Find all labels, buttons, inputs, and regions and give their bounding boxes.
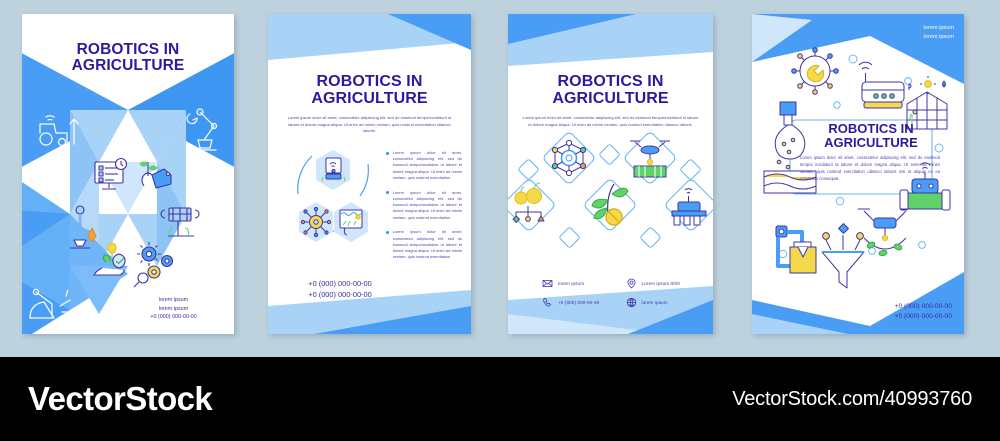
- panel-3-contact-block: lorem ipsum Lorem ipsum 00/0 +0 (000) 00…: [542, 278, 699, 308]
- brochure-panel-1[interactable]: ROBOTICS IN AGRICULTURE: [22, 14, 234, 334]
- molecule-network-icon: [552, 140, 585, 175]
- brochure-panel-4[interactable]: lorem ipsum lorem ipsum: [752, 14, 964, 334]
- bullet-dot-icon: [386, 191, 389, 194]
- panel-2-phone-numbers: +0 (000) 000-00-00 +0 (000) 000-00-00: [282, 278, 398, 300]
- envelope-icon: [542, 278, 553, 289]
- panel-4-lede: Lorem ipsum dolor sit amet, consectetur …: [800, 155, 940, 183]
- gear-network-icon: [299, 202, 333, 242]
- field-sensor-plants-icon: [161, 208, 199, 236]
- list-item: Lorem ipsum dolor sit amet, consectetur …: [386, 150, 462, 181]
- robot-arm-carrot-icon: [70, 206, 96, 248]
- wifi-controller-icon: [859, 62, 904, 108]
- list-item: Lorem ipsum dolor sit amet, consectetur …: [386, 190, 462, 221]
- robot-arm-icon: [187, 109, 216, 150]
- contact-email[interactable]: lorem ipsum: [542, 278, 616, 289]
- vectorstock-logo: VectorStock: [28, 380, 212, 418]
- drone-spraying-icon: [858, 209, 912, 256]
- globe-icon: [626, 297, 637, 308]
- robot-arm-crate-icon: [776, 226, 816, 273]
- robot-welding-icon: [30, 289, 74, 324]
- watermark-bar: VectorStock VectorStock.com/40993760: [0, 357, 1000, 441]
- phone-icon: [542, 297, 553, 308]
- brochure-panel-2[interactable]: ROBOTICS IN AGRICULTURE Lorem ipsum dolo…: [268, 14, 471, 334]
- brochure-sheets: ROBOTICS IN AGRICULTURE: [0, 0, 1000, 345]
- vectorstock-url: VectorStock.com/40993760: [732, 388, 972, 411]
- autonomous-tractor-wifi-icon: [672, 189, 706, 225]
- panel-4-phone-numbers: +0 (000) 000-00-00 +0 (000) 000-00-00: [895, 302, 952, 322]
- monitor-checklist-clock-icon: [95, 159, 127, 190]
- panel-1-icons: [22, 14, 234, 334]
- tablet-field-map-icon: [334, 202, 368, 242]
- brochure-panel-3[interactable]: ROBOTICS IN AGRICULTURE Lorem ipsum dolo…: [508, 14, 713, 334]
- bullet-dot-icon: [386, 231, 389, 234]
- panel-1-contact: lorem ipsum lorem ipsum +0 (000) 000-00-…: [121, 296, 226, 322]
- poster-sheet-row: ROBOTICS IN AGRICULTURE: [0, 0, 1000, 441]
- robot-hand-seedling-icon: [141, 162, 172, 188]
- tractor-wifi-growth-icon: [40, 116, 78, 146]
- contact-address[interactable]: Lorem ipsum 00/0: [626, 278, 700, 289]
- drone-field-icon: [630, 141, 670, 177]
- funnel-data-icon: [822, 224, 864, 288]
- contact-website[interactable]: lorem ipsum: [626, 297, 700, 308]
- list-item: Lorem ipsum dolor sit amet, consectetur …: [386, 229, 462, 260]
- panel-2-bullet-list: Lorem ipsum dolor sit amet, consectetur …: [386, 150, 462, 269]
- bullet-dot-icon: [386, 152, 389, 155]
- contact-phone[interactable]: +0 (000) 000-00-00: [542, 297, 616, 308]
- hand-plant-shield-icon: [94, 243, 125, 275]
- gears-magnifier-icon: [134, 242, 173, 287]
- gear-wrench-icon: [792, 48, 839, 95]
- location-pin-icon: [626, 278, 637, 289]
- panel-4-title: ROBOTICS IN AGRICULTURE: [797, 122, 945, 150]
- robot-wifi-crop-icon: [316, 150, 350, 190]
